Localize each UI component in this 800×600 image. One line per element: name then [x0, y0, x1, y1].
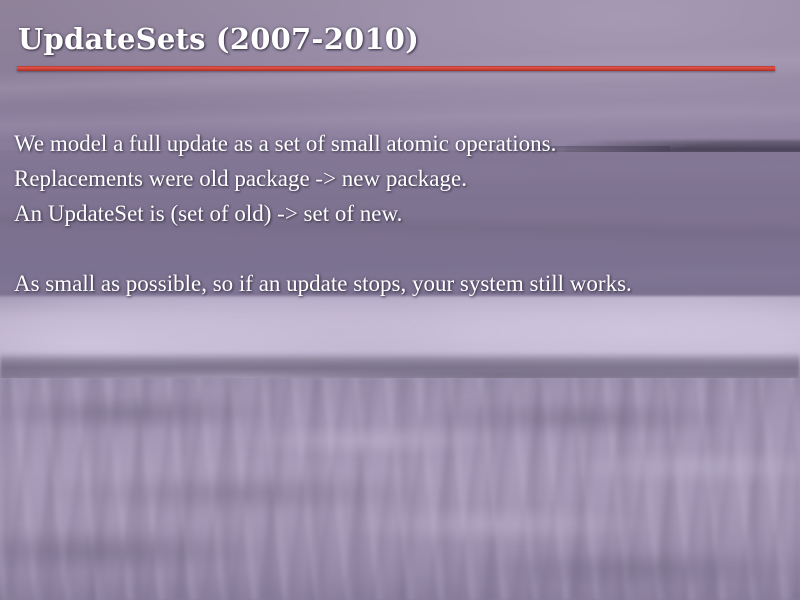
body-line: Replacements were old package -> new pac… — [14, 161, 786, 196]
presentation-slide: UpdateSets (2007-2010) We model a full u… — [0, 0, 800, 600]
body-line: As small as possible, so if an update st… — [14, 266, 786, 301]
body-line: An UpdateSet is (set of old) -> set of n… — [14, 196, 786, 231]
title-underline-rule — [17, 66, 775, 71]
slide-body: We model a full update as a set of small… — [14, 126, 786, 301]
slide-title: UpdateSets (2007-2010) — [18, 22, 419, 56]
slide-content: UpdateSets (2007-2010) We model a full u… — [0, 0, 800, 600]
body-line: We model a full update as a set of small… — [14, 126, 786, 161]
